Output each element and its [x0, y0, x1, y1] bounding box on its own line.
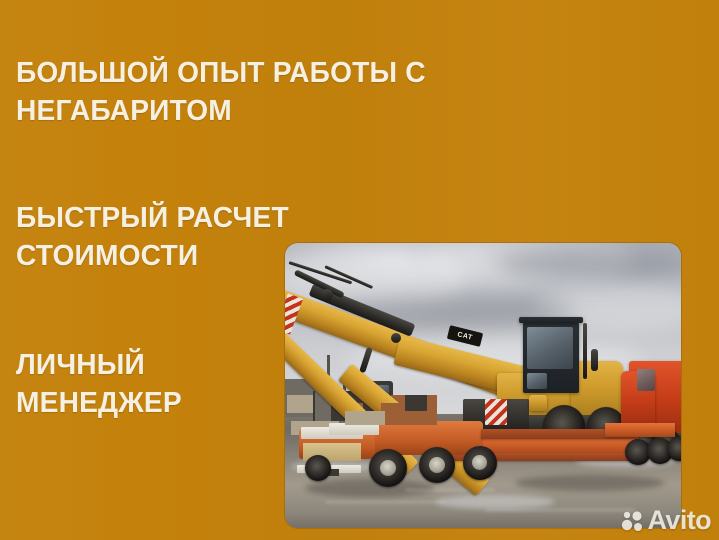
ad-banner: БОЛЬШОЙ ОПЫТ РАБОТЫ С НЕГАБАРИТОМ БЫСТРЫ…	[0, 0, 719, 540]
outrigger	[529, 395, 547, 411]
water-streak	[485, 509, 635, 511]
cloud-shadow	[495, 249, 681, 279]
headline-personal-manager: ЛИЧНЫЙ МЕНЕДЖЕР	[16, 346, 288, 422]
trailer-hub	[429, 457, 445, 473]
cab-windshield	[527, 327, 573, 369]
truck-window	[637, 369, 655, 391]
puddle	[515, 475, 665, 491]
boom-pin	[321, 289, 333, 301]
boom-pin	[391, 333, 401, 343]
puddle	[435, 495, 555, 509]
dolly-wheel	[305, 455, 331, 481]
trailer-hub	[472, 455, 487, 470]
blade-hazard-stripe	[485, 399, 507, 425]
water-streak	[325, 501, 445, 503]
puddle	[305, 479, 435, 497]
deck-cargo	[405, 395, 427, 411]
trailer-hub	[380, 460, 396, 476]
cab-lower-window	[527, 373, 547, 389]
headline-experience: БОЛЬШОЙ ОПЫТ РАБОТЫ С НЕГАБАРИТОМ	[16, 54, 472, 130]
trailer-rail	[605, 423, 675, 437]
cab-roof-guard	[519, 317, 583, 323]
deck-cargo	[345, 411, 385, 425]
cab-handrail	[583, 323, 587, 379]
photo-card: CAT	[285, 243, 681, 528]
exhaust-stack	[591, 349, 598, 371]
excavator-on-trailer-photo: CAT	[285, 243, 681, 528]
